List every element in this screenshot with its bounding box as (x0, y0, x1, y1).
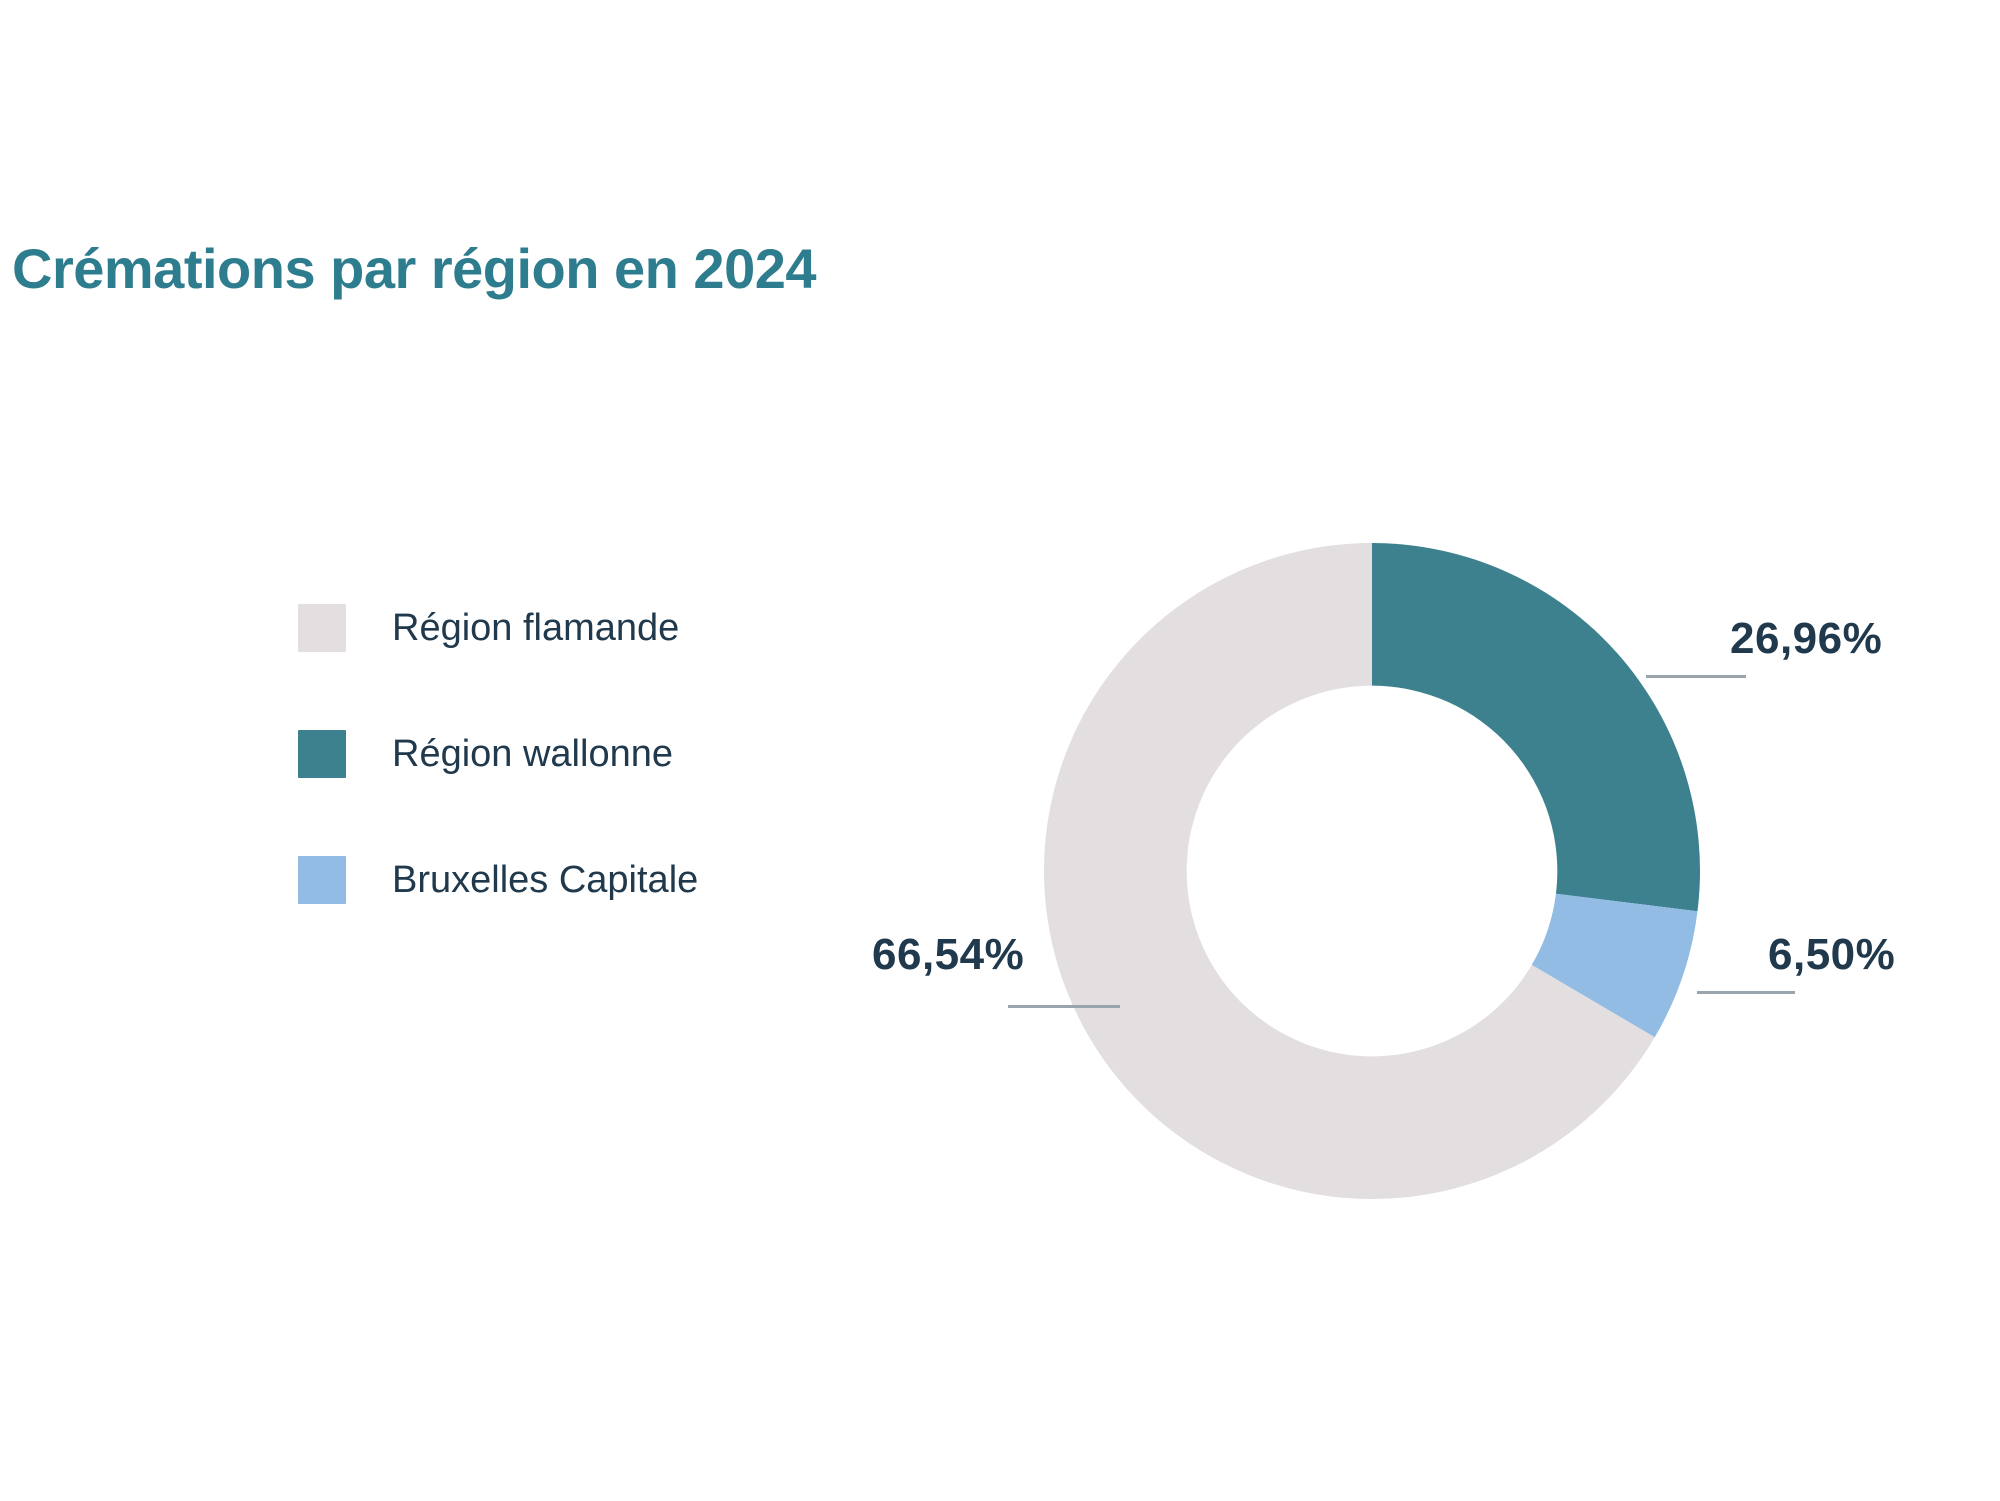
legend-item-bruxelles[interactable]: Bruxelles Capitale (298, 852, 818, 908)
legend-label-flamande: Région flamande (392, 607, 679, 650)
legend-item-wallonne[interactable]: Région wallonne (298, 726, 818, 782)
value-label-flamande: 66,54% (872, 930, 1024, 980)
leader-line-bruxelles (1697, 991, 1795, 994)
chart-legend: Région flamande Région wallonne Bruxelle… (298, 600, 818, 908)
legend-swatch-flamande (298, 604, 346, 652)
value-label-bruxelles: 6,50% (1768, 930, 1895, 980)
value-label-wallonne: 26,96% (1730, 614, 1882, 664)
legend-label-wallonne: Région wallonne (392, 733, 673, 776)
legend-swatch-wallonne (298, 730, 346, 778)
chart-page: Crémations par région en 2024 Région fla… (0, 0, 2000, 1501)
legend-swatch-bruxelles (298, 856, 346, 904)
donut-slice-group (1044, 543, 1700, 1199)
donut-slice[interactable] (1372, 543, 1700, 911)
leader-line-wallonne (1646, 675, 1746, 678)
leader-line-flamande (1008, 1005, 1120, 1008)
donut-svg (1044, 543, 1700, 1199)
page-title: Crémations par région en 2024 (12, 236, 816, 301)
legend-label-bruxelles: Bruxelles Capitale (392, 859, 698, 902)
donut-chart (1044, 543, 1700, 1199)
legend-item-flamande[interactable]: Région flamande (298, 600, 818, 656)
